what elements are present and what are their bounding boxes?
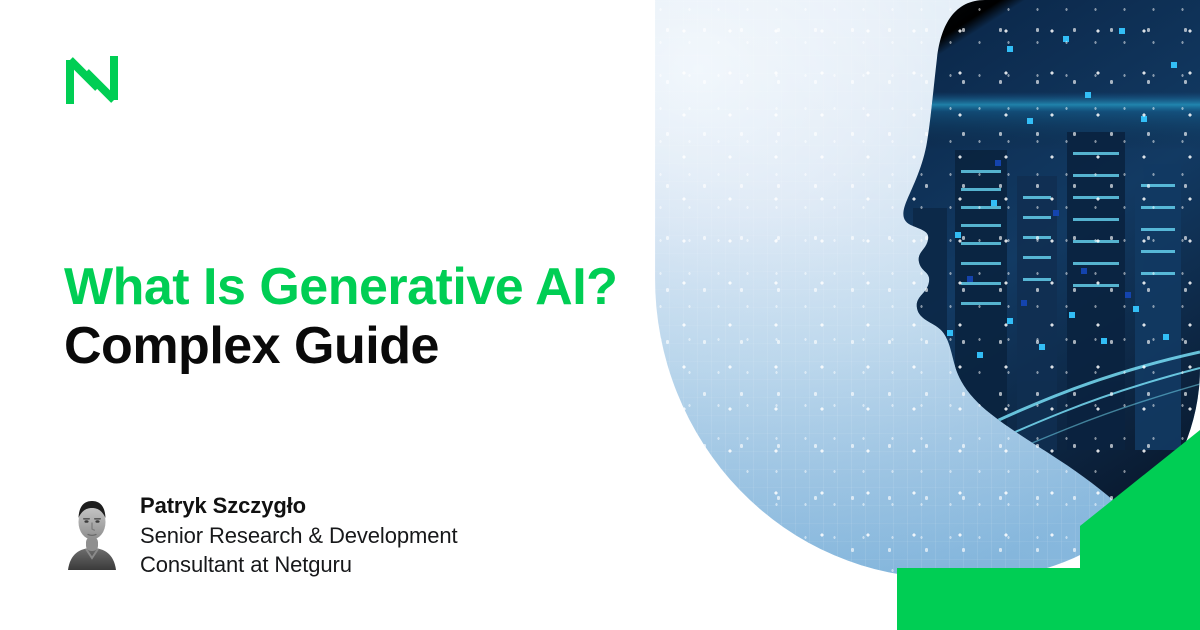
title-line-secondary: Complex Guide — [64, 317, 624, 376]
ai-head-cityscape-image — [655, 0, 1200, 578]
visual-pixel-dots-secondary — [655, 0, 1200, 578]
avatar — [64, 492, 120, 570]
netguru-logo-icon[interactable] — [64, 54, 120, 106]
author-text: Patryk Szczygło Senior Research & Develo… — [140, 492, 458, 579]
author-block: Patryk Szczygło Senior Research & Develo… — [64, 492, 458, 579]
author-name: Patryk Szczygło — [140, 492, 458, 521]
green-accent-block — [897, 568, 1200, 630]
page-title: What Is Generative AI? Complex Guide — [64, 258, 624, 377]
author-role-line-2: Consultant at Netguru — [140, 550, 458, 579]
author-role-line-1: Senior Research & Development — [140, 521, 458, 550]
title-line-primary: What Is Generative AI? — [64, 258, 624, 317]
cover-canvas: What Is Generative AI? Complex Guide — [0, 0, 1200, 630]
hero-visual — [655, 0, 1200, 578]
